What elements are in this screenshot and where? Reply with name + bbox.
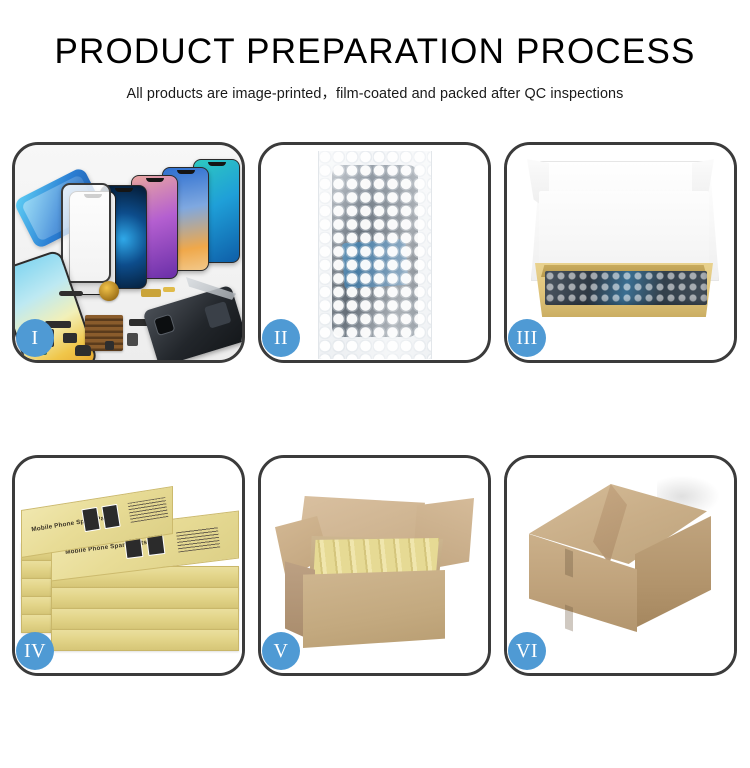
rear-camera-icon (153, 314, 175, 336)
logic-board-chip (204, 301, 231, 328)
carton-front-face (303, 570, 445, 648)
part-battery-connector (127, 333, 138, 346)
process-row-top: I II (12, 142, 738, 363)
phone-notch-icon (177, 170, 195, 174)
tempered-glass-pane (61, 183, 111, 283)
step-badge-1: I (16, 319, 54, 357)
step-card-1: I (12, 142, 245, 363)
retail-box-stack: Mobile Phone Spare Parts Mobile Phone Sp… (21, 480, 242, 666)
phone-notch-icon (115, 188, 133, 192)
box-label-phone-image-1b (101, 504, 120, 529)
box-label-phone-image-1a (81, 507, 100, 532)
stacked-box-edge (51, 587, 239, 609)
process-steps-grid: I II (12, 142, 738, 768)
part-camera-module (75, 345, 91, 356)
carton-seam-upper (565, 549, 573, 578)
stacked-box-edge (51, 629, 239, 651)
stacked-box-edge (51, 608, 239, 630)
phone-notch-icon (208, 162, 226, 166)
part-speaker-mesh (59, 291, 83, 296)
step-badge-2: II (262, 319, 300, 357)
step-card-2: II (258, 142, 491, 363)
step-badge-3: III (508, 319, 546, 357)
step-card-5: V (258, 455, 491, 676)
step-card-4: Mobile Phone Spare Parts Mobile Phone Sp… (12, 455, 245, 676)
part-gold-contact (163, 287, 175, 292)
part-module-1 (63, 333, 77, 343)
step-badge-4: IV (16, 632, 54, 670)
step-badge-6: VI (508, 632, 546, 670)
page-subtitle: All products are image-printed，film-coat… (0, 82, 750, 103)
box-wrapped-contents (545, 271, 707, 305)
film-gloss-highlight (319, 151, 431, 359)
process-row-bottom: Mobile Phone Spare Parts Mobile Phone Sp… (12, 455, 738, 676)
carton-seam-lower (565, 605, 573, 632)
part-vibration-coil (99, 281, 119, 301)
phone-notch-icon (146, 178, 164, 182)
part-flex-connector (141, 289, 161, 297)
step-badge-5: V (262, 632, 300, 670)
part-grid-chip (85, 315, 123, 351)
part-screw-plate (105, 341, 114, 350)
page-title: PRODUCT PREPARATION PROCESS (0, 34, 750, 71)
step-card-6: VI (504, 455, 737, 676)
step-card-3: III (504, 142, 737, 363)
page-header: PRODUCT PREPARATION PROCESS All products… (0, 0, 750, 103)
